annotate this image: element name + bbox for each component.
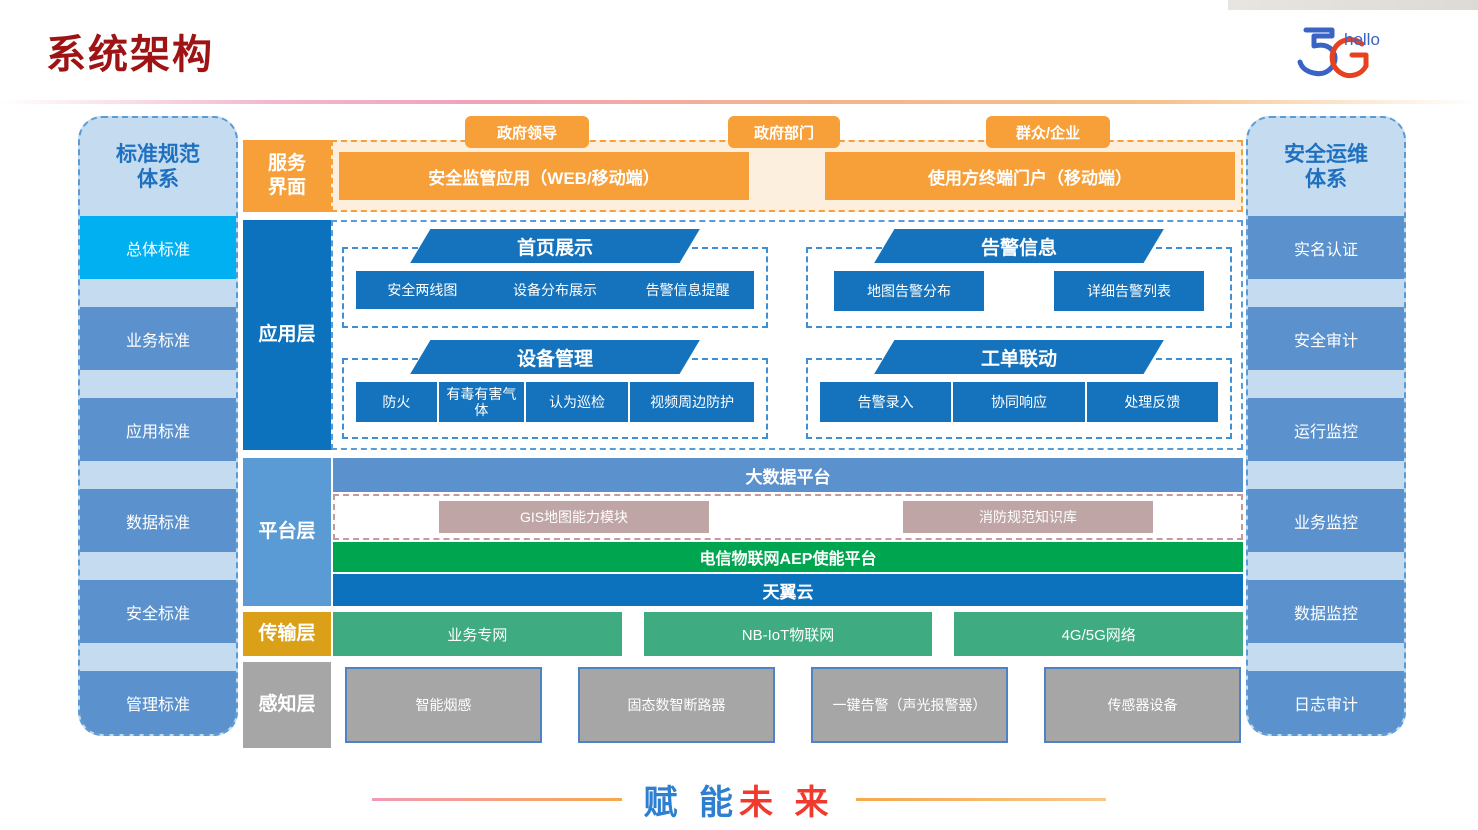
left-pillar-gap-1 — [80, 370, 236, 398]
module-device-item-0[interactable]: 防火 — [356, 382, 437, 422]
page-title: 系统架构 — [46, 22, 214, 80]
right-pillar-item-4[interactable]: 数据监控 — [1248, 580, 1404, 643]
sensing-box-breaker[interactable]: 固态数智断路器 — [578, 667, 775, 743]
left-pillar-item-1[interactable]: 业务标准 — [80, 307, 236, 370]
module-workorder-item-1[interactable]: 协同响应 — [953, 382, 1084, 422]
module-alarm-item-1[interactable]: 详细告警列表 — [1054, 271, 1204, 311]
service-layer-frame: 安全监管应用（WEB/移动端） 使用方终端门户（移动端） — [331, 140, 1243, 212]
left-pillar-gap-4 — [80, 643, 236, 671]
module-alarm-items: 地图告警分布 详细告警列表 — [834, 271, 1204, 311]
left-pillar-gap-3 — [80, 552, 236, 580]
left-pillar-item-3[interactable]: 数据标准 — [80, 489, 236, 552]
service-label-line1: 服务 — [268, 153, 306, 174]
top-right-decoration — [1228, 0, 1478, 10]
footer-line-right — [856, 798, 1106, 801]
sensing-box-smoke-detector[interactable]: 智能烟感 — [345, 667, 542, 743]
footer-line-left — [372, 798, 622, 801]
layer-transport: 传输层 业务专网 NB-IoT物联网 4G/5G网络 — [243, 612, 1243, 656]
footer-text: 赋 能未 来 — [622, 775, 857, 824]
platform-capability-frame: GIS地图能力模块 消防规范知识库 — [333, 494, 1243, 540]
right-pillar-gap-4 — [1248, 643, 1404, 671]
module-alarm-info: 告警信息 地图告警分布 详细告警列表 — [806, 229, 1232, 330]
layer-label-service-interface: 服务 界面 — [243, 140, 331, 212]
module-workorder-item-0[interactable]: 告警录入 — [820, 382, 951, 422]
module-device-management: 设备管理 防火 有毒有害气体 认为巡检 视频周边防护 — [342, 340, 768, 441]
slide-canvas: 系统架构 hello 标准规范 体系 总体标准 业务标准 应用标准 — [0, 0, 1478, 830]
layer-label-platform: 平台层 — [243, 458, 331, 606]
platform-cap-fire-knowledge[interactable]: 消防规范知识库 — [903, 501, 1153, 533]
left-pillar-item-0[interactable]: 总体标准 — [80, 216, 236, 279]
module-home-items: 安全两线图 设备分布展示 告警信息提醒 — [356, 271, 754, 309]
module-alarm-header[interactable]: 告警信息 — [874, 229, 1164, 263]
right-pillar-item-0[interactable]: 实名认证 — [1248, 216, 1404, 279]
right-pillar-gap-2 — [1248, 461, 1404, 489]
module-alarm-item-0[interactable]: 地图告警分布 — [834, 271, 984, 311]
module-work-order: 工单联动 告警录入 协同响应 处理反馈 — [806, 340, 1232, 441]
module-device-header[interactable]: 设备管理 — [410, 340, 700, 374]
left-pillar-title: 标准规范 体系 — [80, 118, 236, 216]
layer-platform: 平台层 大数据平台 GIS地图能力模块 消防规范知识库 电信物联网AEP使能平台… — [243, 458, 1243, 606]
transport-box-4g5g[interactable]: 4G/5G网络 — [954, 612, 1243, 656]
service-box-supervision-app[interactable]: 安全监管应用（WEB/移动端） — [339, 152, 749, 200]
sensing-box-one-key-alarm[interactable]: 一键告警（声光报警器） — [811, 667, 1008, 743]
module-workorder-items: 告警录入 协同响应 处理反馈 — [820, 382, 1218, 422]
layer-service-interface: 服务 界面 安全监管应用（WEB/移动端） 使用方终端门户（移动端） — [243, 140, 1243, 212]
left-pillar-gap-0 — [80, 279, 236, 307]
platform-layer-stack: 大数据平台 GIS地图能力模块 消防规范知识库 电信物联网AEP使能平台 天翼云 — [331, 458, 1243, 606]
left-pillar-item-2[interactable]: 应用标准 — [80, 398, 236, 461]
platform-cloud-box[interactable]: 天翼云 — [333, 574, 1243, 606]
transport-box-private-network[interactable]: 业务专网 — [333, 612, 622, 656]
logo-icon — [1288, 22, 1398, 82]
module-device-items: 防火 有毒有害气体 认为巡检 视频周边防护 — [356, 382, 754, 422]
layer-stack: 政府领导 政府部门 群众/企业 服务 界面 安全监管应用（WEB/移动端） 使用… — [243, 116, 1243, 736]
footer-slogan: 赋 能未 来 — [0, 768, 1478, 830]
service-box-user-portal[interactable]: 使用方终端门户（移动端） — [825, 152, 1235, 200]
application-module-grid: 首页展示 安全两线图 设备分布展示 告警信息提醒 告警信息 — [342, 229, 1232, 441]
platform-aep-box[interactable]: 电信物联网AEP使能平台 — [333, 542, 1243, 572]
module-device-item-3[interactable]: 视频周边防护 — [630, 382, 754, 422]
module-device-item-2[interactable]: 认为巡检 — [526, 382, 628, 422]
layer-sensing: 感知层 智能烟感 固态数智断路器 一键告警（声光报警器） 传感器设备 — [243, 662, 1243, 748]
sensing-box-sensor-device[interactable]: 传感器设备 — [1044, 667, 1241, 743]
module-home-display: 首页展示 安全两线图 设备分布展示 告警信息提醒 — [342, 229, 768, 330]
left-pillar-title-line1: 标准规范 — [116, 143, 200, 166]
sensing-layer-body: 智能烟感 固态数智断路器 一键告警（声光报警器） 传感器设备 — [331, 662, 1243, 748]
module-device-item-1[interactable]: 有毒有害气体 — [439, 382, 524, 422]
module-home-item-2[interactable]: 告警信息提醒 — [621, 271, 754, 309]
persona-tabs: 政府领导 政府部门 群众/企业 — [243, 116, 1243, 148]
right-pillar-items: 实名认证 安全审计 运行监控 业务监控 数据监控 日志审计 — [1248, 216, 1404, 734]
right-pillar-item-1[interactable]: 安全审计 — [1248, 307, 1404, 370]
right-pillar-item-5[interactable]: 日志审计 — [1248, 671, 1404, 734]
left-pillar-item-4[interactable]: 安全标准 — [80, 580, 236, 643]
module-home-item-1[interactable]: 设备分布展示 — [489, 271, 622, 309]
left-pillar-gap-2 — [80, 461, 236, 489]
layer-label-transport: 传输层 — [243, 612, 331, 656]
persona-tab-public-enterprise[interactable]: 群众/企业 — [986, 116, 1110, 148]
module-home-item-0[interactable]: 安全两线图 — [356, 271, 489, 309]
service-layer-body: 安全监管应用（WEB/移动端） 使用方终端门户（移动端） — [331, 140, 1243, 212]
persona-tab-government-department[interactable]: 政府部门 — [728, 116, 840, 148]
right-pillar-title: 安全运维 体系 — [1248, 118, 1404, 216]
logo-wordmark: hello — [1344, 30, 1380, 50]
layer-label-sensing: 感知层 — [243, 662, 331, 748]
module-workorder-item-2[interactable]: 处理反馈 — [1087, 382, 1218, 422]
transport-box-nbiot[interactable]: NB-IoT物联网 — [644, 612, 933, 656]
layer-application: 应用层 首页展示 安全两线图 设备分布展示 告警信息提醒 — [243, 220, 1243, 450]
footer-text-blue: 赋 能 — [644, 784, 739, 822]
right-pillar-security-ops: 安全运维 体系 实名认证 安全审计 运行监控 业务监控 数据监控 日志审计 — [1246, 116, 1406, 736]
right-pillar-item-2[interactable]: 运行监控 — [1248, 398, 1404, 461]
platform-layer-body: 大数据平台 GIS地图能力模块 消防规范知识库 电信物联网AEP使能平台 天翼云 — [331, 458, 1243, 606]
platform-cap-gis[interactable]: GIS地图能力模块 — [439, 501, 709, 533]
module-home-header[interactable]: 首页展示 — [410, 229, 700, 263]
left-pillar-title-line2: 体系 — [137, 168, 179, 191]
module-workorder-header[interactable]: 工单联动 — [874, 340, 1164, 374]
right-pillar-gap-3 — [1248, 552, 1404, 580]
architecture-diagram: 标准规范 体系 总体标准 业务标准 应用标准 数据标准 安全标准 管理标准 — [0, 104, 1478, 764]
brand-logo-5g-hello: hello — [1288, 22, 1398, 82]
service-label-line2: 界面 — [268, 177, 306, 198]
sensing-layer-boxes: 智能烟感 固态数智断路器 一键告警（声光报警器） 传感器设备 — [331, 662, 1243, 748]
right-pillar-title-line2: 体系 — [1305, 168, 1347, 191]
layer-label-application: 应用层 — [243, 220, 331, 450]
left-pillar-item-5[interactable]: 管理标准 — [80, 671, 236, 734]
transport-layer-boxes: 业务专网 NB-IoT物联网 4G/5G网络 — [331, 612, 1243, 656]
platform-bigdata-box[interactable]: 大数据平台 — [333, 458, 1243, 492]
persona-tab-government-leader[interactable]: 政府领导 — [465, 116, 589, 148]
right-pillar-title-line1: 安全运维 — [1284, 143, 1368, 166]
transport-layer-body: 业务专网 NB-IoT物联网 4G/5G网络 — [331, 612, 1243, 656]
right-pillar-gap-0 — [1248, 279, 1404, 307]
left-pillar-items: 总体标准 业务标准 应用标准 数据标准 安全标准 管理标准 — [80, 216, 236, 734]
right-pillar-gap-1 — [1248, 370, 1404, 398]
footer-text-red: 未 来 — [739, 784, 834, 822]
application-layer-body: 首页展示 安全两线图 设备分布展示 告警信息提醒 告警信息 — [331, 220, 1243, 450]
left-pillar-standards: 标准规范 体系 总体标准 业务标准 应用标准 数据标准 安全标准 管理标准 — [78, 116, 238, 736]
application-layer-frame: 首页展示 安全两线图 设备分布展示 告警信息提醒 告警信息 — [331, 220, 1243, 450]
right-pillar-item-3[interactable]: 业务监控 — [1248, 489, 1404, 552]
